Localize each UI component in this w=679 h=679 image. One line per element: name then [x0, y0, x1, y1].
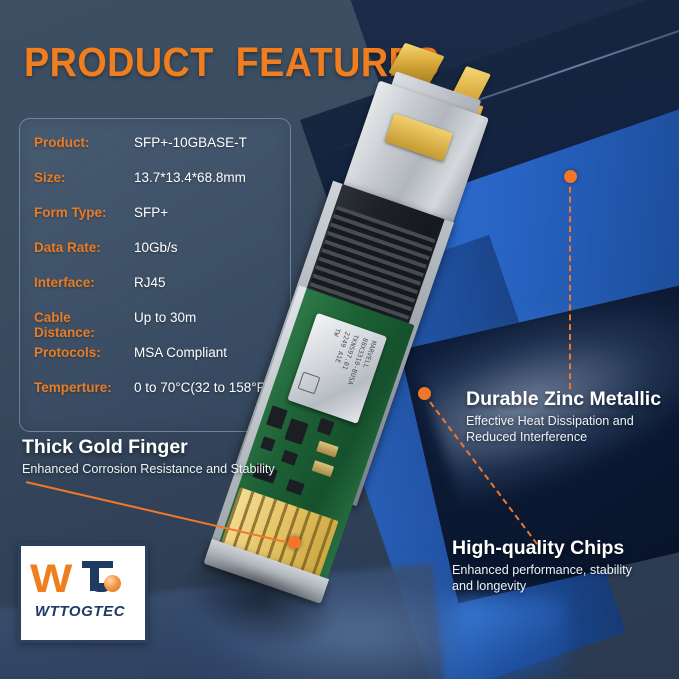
- callout-title: Durable Zinc Metallic: [466, 389, 661, 411]
- callout-subtitle: Enhanced Corrosion Resistance and Stabil…: [22, 461, 275, 477]
- spec-label: Size:: [34, 170, 134, 185]
- infographic-canvas: PRODUCT FEATURES Product: SFP+-10GBASE-T…: [0, 0, 679, 679]
- leader-line-zinc: [569, 177, 571, 389]
- spec-label: Data Rate:: [34, 240, 134, 255]
- callout-subtitle: Enhanced performance, stability and long…: [452, 562, 632, 594]
- marker-zinc: [564, 170, 577, 183]
- callout-high-quality-chips: High-quality Chips Enhanced performance,…: [452, 538, 632, 594]
- spec-value: RJ45: [134, 275, 166, 290]
- marker-gold-finger: [288, 536, 301, 549]
- spec-value: SFP+-10GBASE-T: [134, 135, 247, 150]
- callout-zinc-metallic: Durable Zinc Metallic Effective Heat Dis…: [466, 389, 661, 445]
- background-bokeh-highlight: [455, 600, 565, 679]
- brand-name: WTTOGTEC: [18, 603, 142, 620]
- callout-gold-finger: Thick Gold Finger Enhanced Corrosion Res…: [22, 437, 275, 477]
- spec-label: Temperture:: [34, 380, 134, 395]
- brand-logo-mark: W: [30, 557, 130, 601]
- spec-label: Cable Distance:: [34, 310, 134, 340]
- callout-title: High-quality Chips: [452, 538, 632, 560]
- spec-label: Protocols:: [34, 345, 134, 360]
- callout-subtitle: Effective Heat Dissipation and Reduced I…: [466, 413, 661, 445]
- spec-label: Product:: [34, 135, 134, 150]
- spec-value: SFP+: [134, 205, 168, 220]
- marker-chips: [418, 387, 431, 400]
- spec-value: 10Gb/s: [134, 240, 178, 255]
- spec-label: Form Type:: [34, 205, 134, 220]
- callout-title: Thick Gold Finger: [22, 437, 275, 459]
- spec-value: Up to 30m: [134, 310, 196, 325]
- spec-label: Interface:: [34, 275, 134, 290]
- logo-sphere-icon: [104, 575, 121, 592]
- spec-value: 13.7*13.4*68.8mm: [134, 170, 246, 185]
- logo-letter-w: W: [30, 559, 70, 599]
